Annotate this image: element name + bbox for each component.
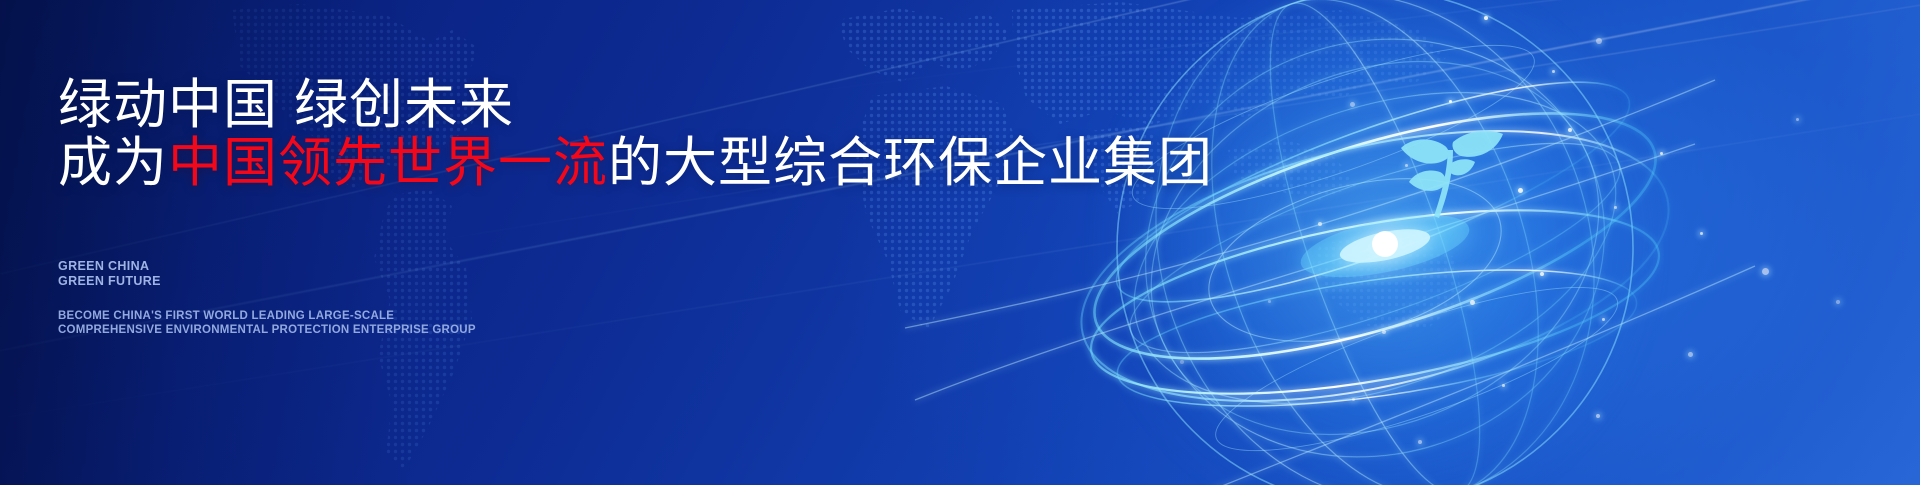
particle <box>1268 300 1271 303</box>
english-description-line-1: BECOME CHINA'S FIRST WORLD LEADING LARGE… <box>58 310 476 324</box>
particle <box>1836 300 1840 304</box>
wireframe-globe <box>1055 0 1695 485</box>
english-slogan: GREEN CHINA GREEN FUTURE <box>58 259 161 288</box>
particle <box>1352 398 1355 401</box>
particle <box>1700 232 1703 235</box>
headline-highlight: 中国领先世界一流 <box>168 133 608 193</box>
english-description: BECOME CHINA'S FIRST WORLD LEADING LARGE… <box>58 310 476 337</box>
particle <box>1596 38 1602 44</box>
particle <box>1518 188 1523 193</box>
particle <box>1318 222 1322 226</box>
particle <box>1484 16 1488 20</box>
particle <box>1382 330 1386 334</box>
particle <box>1796 118 1799 121</box>
particle <box>1688 352 1693 357</box>
particle <box>1552 70 1555 73</box>
english-slogan-line-2: GREEN FUTURE <box>58 274 161 289</box>
headline-line-2: 成为中国领先世界一流的大型综合环保企业集团 <box>58 136 1213 190</box>
english-description-line-2: COMPREHENSIVE ENVIRONMENTAL PROTECTION E… <box>58 324 476 338</box>
particle <box>1405 164 1408 167</box>
particle <box>1180 360 1184 364</box>
globe-glow <box>1090 0 1660 485</box>
headline-prefix: 成为 <box>58 133 168 193</box>
headline-suffix: 的大型综合环保企业集团 <box>608 133 1213 193</box>
particle <box>1502 384 1505 387</box>
particle <box>1418 440 1422 444</box>
particle <box>1540 272 1544 276</box>
green-sprout-icon <box>1393 108 1513 226</box>
particle <box>1350 102 1355 107</box>
particle <box>1449 100 1452 103</box>
particle <box>1470 300 1475 305</box>
english-slogan-line-1: GREEN CHINA <box>58 259 161 274</box>
particle <box>1568 128 1572 132</box>
hero-banner: 绿动中国 绿创未来 成为中国领先世界一流的大型综合环保企业集团 GREEN CH… <box>0 0 1920 485</box>
banner-copy: 绿动中国 绿创未来 成为中国领先世界一流的大型综合环保企业集团 GREEN CH… <box>58 0 1058 485</box>
particle <box>1762 268 1769 275</box>
headline-line-1: 绿动中国 绿创未来 <box>58 78 514 132</box>
particle <box>1596 414 1600 418</box>
particle <box>1614 206 1617 209</box>
particle <box>1660 152 1663 155</box>
particle <box>1602 318 1605 321</box>
